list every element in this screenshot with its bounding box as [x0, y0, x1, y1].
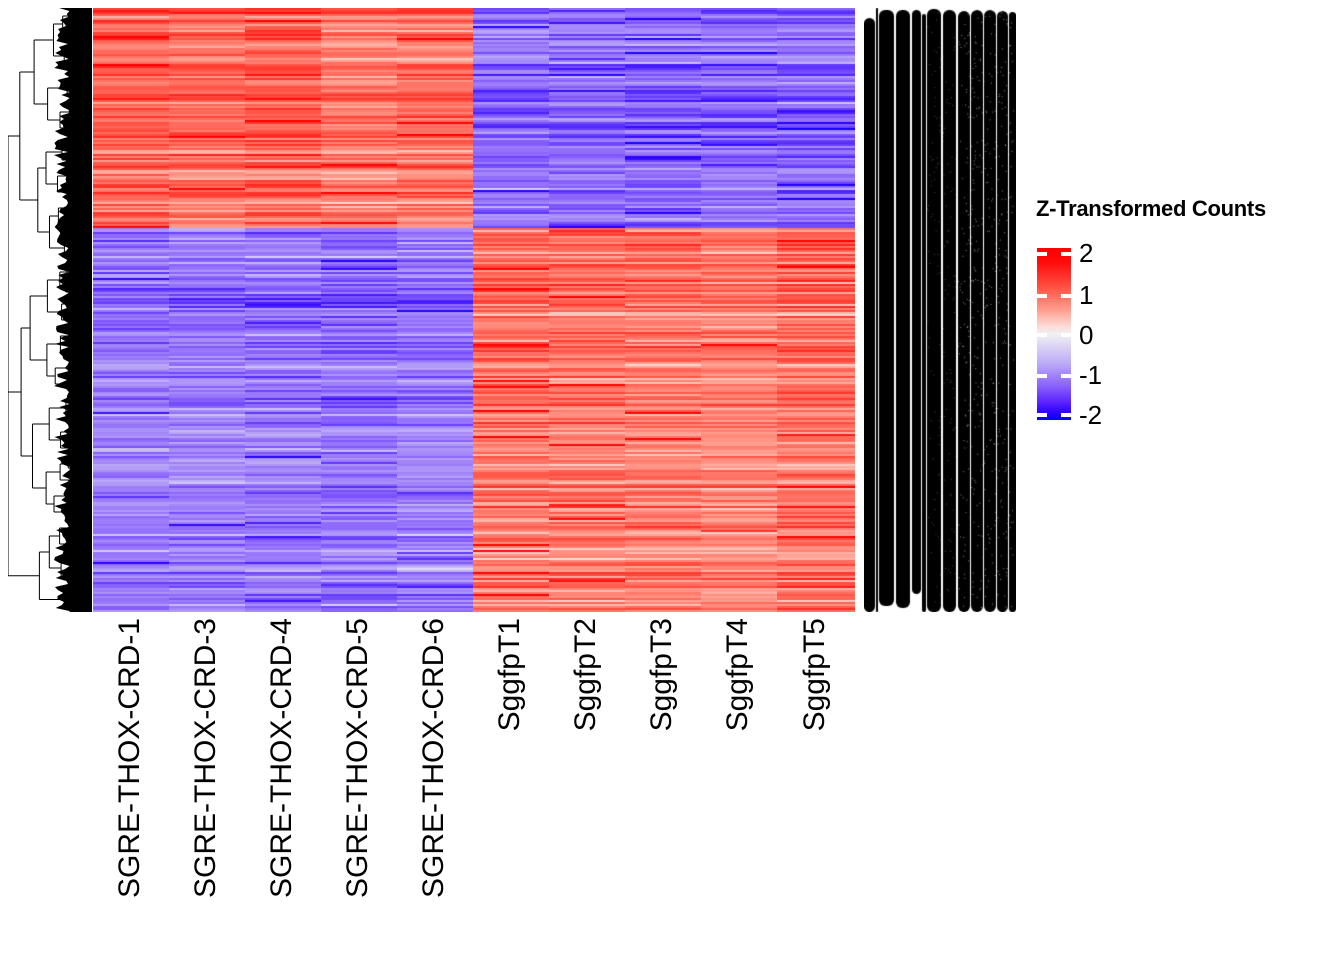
legend-tick-right-m1: [1061, 374, 1071, 378]
heatmap-column: [701, 8, 777, 612]
heatmap-column: [397, 8, 473, 612]
column-label-8: SggfpT4: [723, 618, 753, 731]
heatmap-column: [245, 8, 321, 612]
legend-tick-left-m1: [1037, 374, 1047, 378]
legend-tick-left-0: [1037, 333, 1047, 337]
heatmap-column: [93, 8, 169, 612]
column-label-0: SGRE-THOX-CRD-1: [115, 618, 145, 898]
legend-tick-right-2: [1061, 252, 1071, 256]
dendrogram-leaf-fringe: [54, 8, 70, 612]
legend-tick-label-m2: -2: [1079, 402, 1102, 428]
dendrogram-leaf-mass: [70, 8, 92, 612]
column-label-2: SGRE-THOX-CRD-4: [267, 618, 297, 898]
row-label-block: [864, 8, 1016, 612]
column-label-7: SggfpT3: [647, 618, 677, 731]
legend-tick-label-1: 1: [1079, 282, 1093, 308]
legend-tick-label-0: 0: [1079, 322, 1093, 348]
legend-title: Z-Transformed Counts: [1036, 196, 1266, 222]
heatmap-column: [169, 8, 245, 612]
heatmap-grid: [93, 8, 855, 612]
heatmap-column: [321, 8, 397, 612]
heatmap-figure: SGRE-THOX-CRD-1 SGRE-THOX-CRD-3 SGRE-THO…: [0, 0, 1344, 960]
column-label-1: SGRE-THOX-CRD-3: [191, 618, 221, 898]
column-label-6: SggfpT2: [571, 618, 601, 731]
heatmap-column: [777, 8, 855, 612]
heatmap-column: [549, 8, 625, 612]
legend-colorbar: 2 1 0 -1 -2: [1037, 248, 1071, 420]
legend: Z-Transformed Counts 2 1 0 -1 -2: [1036, 196, 1336, 432]
legend-tick-right-0: [1061, 333, 1071, 337]
column-label-3: SGRE-THOX-CRD-5: [343, 618, 373, 898]
legend-tick-right-1: [1061, 294, 1071, 298]
legend-tick-right-m2: [1061, 413, 1071, 417]
column-label-4: SGRE-THOX-CRD-6: [419, 618, 449, 898]
heatmap-column: [473, 8, 549, 612]
row-dendrogram-svg: [8, 8, 92, 612]
legend-tick-left-2: [1037, 252, 1047, 256]
legend-tick-label-m1: -1: [1079, 362, 1102, 388]
legend-tick-left-m2: [1037, 413, 1047, 417]
legend-tick-label-2: 2: [1079, 240, 1093, 266]
row-dendrogram: [8, 8, 92, 612]
column-label-5: SggfpT1: [495, 618, 525, 731]
column-labels: SGRE-THOX-CRD-1 SGRE-THOX-CRD-3 SGRE-THO…: [93, 614, 855, 944]
column-label-9: SggfpT5: [800, 618, 830, 731]
legend-tick-left-1: [1037, 294, 1047, 298]
heatmap-column: [625, 8, 701, 612]
